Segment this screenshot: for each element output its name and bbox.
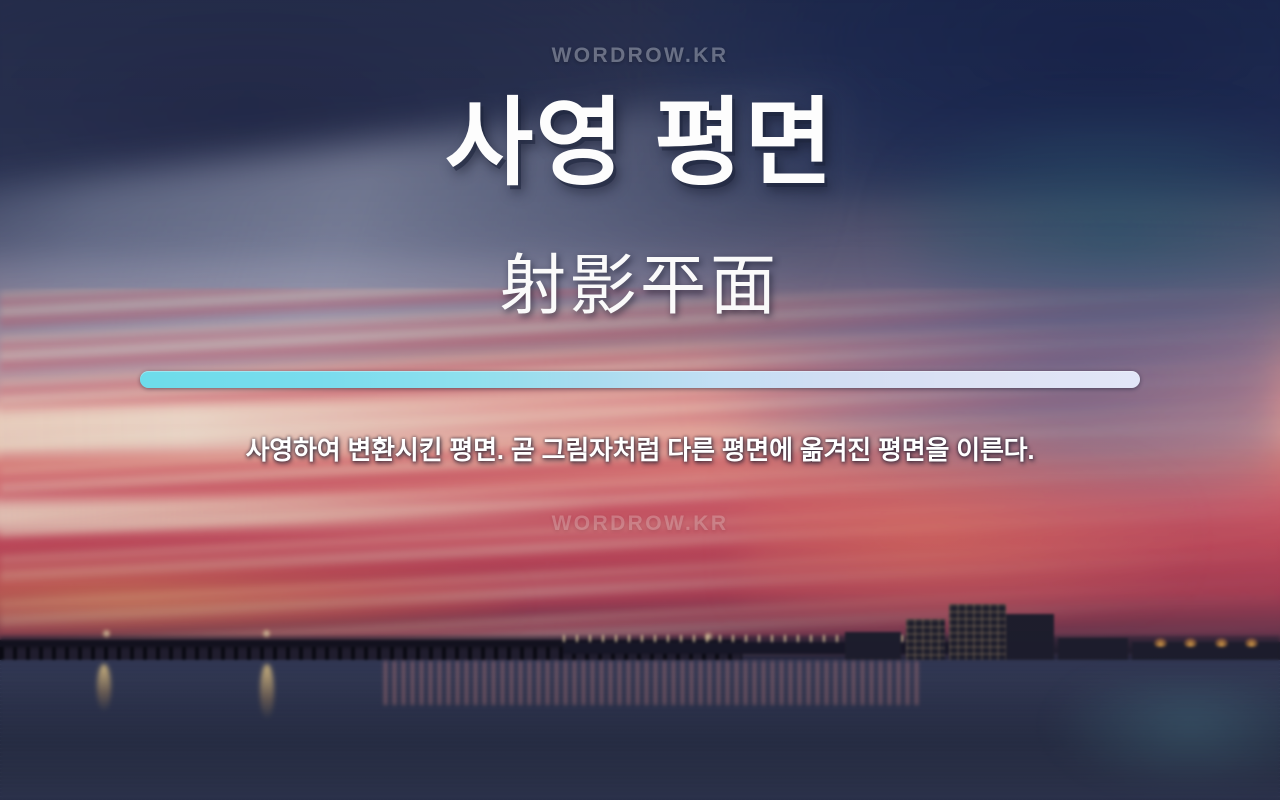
watermark-bottom: WORDROW.KR bbox=[0, 512, 1280, 536]
progress-bar bbox=[140, 371, 1140, 388]
hanja-subtitle: 射影平面 bbox=[0, 250, 1280, 323]
definition-text: 사영하여 변환시킨 평면. 곧 그림자처럼 다른 평면에 옮겨진 평면을 이른다… bbox=[175, 432, 1105, 469]
vocabulary-card: WORDROW.KR 사영 평면 射影平面 사영하여 변환시킨 평면. 곧 그림… bbox=[0, 0, 1280, 800]
page-title: 사영 평면 bbox=[0, 92, 1280, 196]
card-content: WORDROW.KR 사영 평면 射影平面 사영하여 변환시킨 평면. 곧 그림… bbox=[0, 0, 1280, 800]
watermark-top: WORDROW.KR bbox=[0, 44, 1280, 68]
